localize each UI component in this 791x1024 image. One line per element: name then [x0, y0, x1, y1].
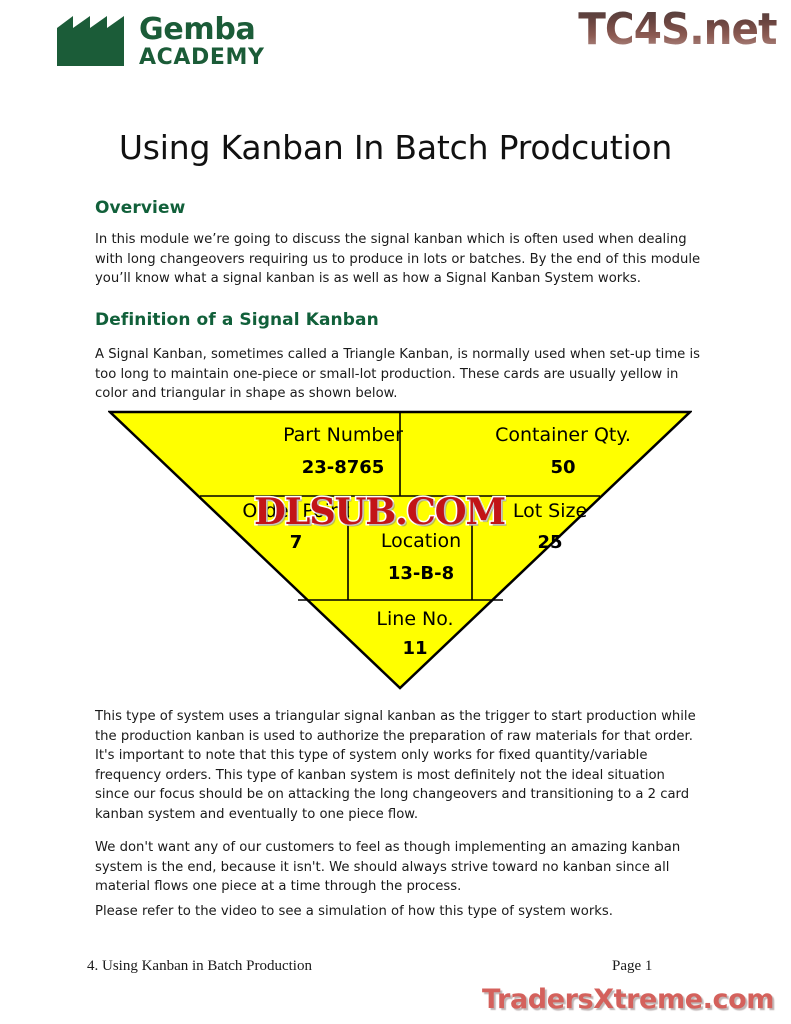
signal-kanban-figure: Part Number 23-8765 Container Qty. 50 Or…	[108, 410, 692, 690]
page-header: Gemba ACADEMY TC4S.net	[0, 0, 791, 100]
dlsub-watermark: DLSUB.COM	[254, 491, 505, 533]
factory-icon	[57, 14, 131, 66]
kanban-label-part-number: Part Number	[228, 424, 458, 446]
kanban-value-part-number: 23-8765	[228, 457, 458, 478]
kanban-value-order-point: 7	[226, 532, 366, 553]
document-page: Gemba ACADEMY TC4S.net Using Kanban In B…	[0, 0, 791, 1024]
gemba-academy-logo: Gemba ACADEMY	[57, 14, 265, 69]
kanban-value-location: 13-B-8	[356, 563, 486, 584]
brand-name-secondary: ACADEMY	[139, 47, 265, 69]
footer-page-number: Page 1	[612, 958, 652, 975]
section-heading-definition: Definition of a Signal Kanban	[95, 310, 703, 330]
section-heading-overview: Overview	[95, 198, 703, 218]
kanban-label-line-no: Line No.	[335, 608, 495, 630]
kanban-value-container-qty: 50	[448, 457, 678, 478]
paragraph-customers: We don't want any of our customers to fe…	[95, 838, 703, 897]
kanban-label-location: Location	[356, 530, 486, 552]
paragraph-after-figure: This type of system uses a triangular si…	[95, 707, 703, 824]
footer-document-label: 4. Using Kanban in Batch Production	[87, 958, 312, 975]
tc4s-watermark: TC4S.net	[579, 4, 777, 55]
brand-name-primary: Gemba	[139, 15, 265, 45]
kanban-value-line-no: 11	[335, 638, 495, 659]
brand-wordmark: Gemba ACADEMY	[139, 14, 265, 69]
kanban-label-container-qty: Container Qty.	[448, 424, 678, 446]
section-body-definition: A Signal Kanban, sometimes called a Tria…	[95, 345, 703, 404]
page-title: Using Kanban In Batch Prodcution	[0, 128, 791, 167]
kanban-value-lot-size: 25	[480, 532, 620, 553]
section-body-overview: In this module we’re going to discuss th…	[95, 230, 703, 289]
paragraph-video: Please refer to the video to see a simul…	[95, 902, 703, 922]
tradersxtreme-watermark: TradersXtreme.com	[482, 984, 774, 1015]
